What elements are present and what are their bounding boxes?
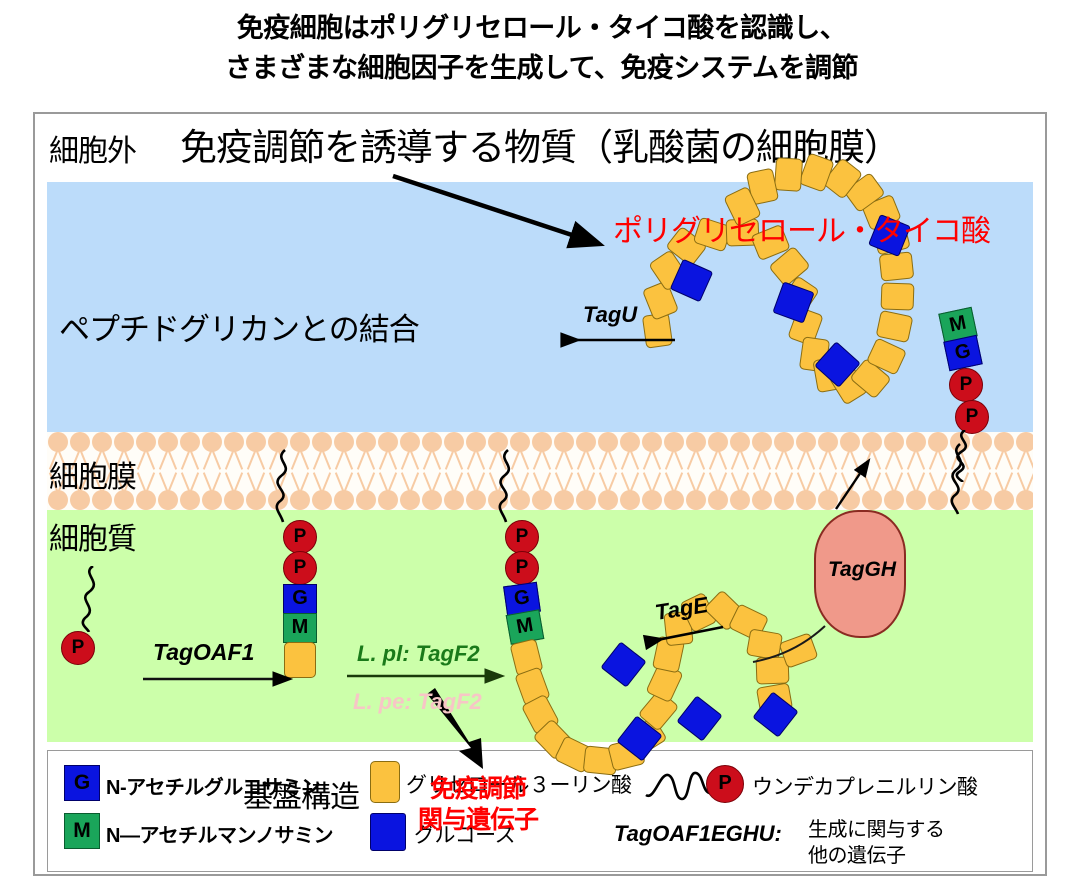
label-immune-regulation-genes: 免疫調節 関与遺伝子 [418, 774, 538, 836]
label-extracellular: 細胞外 [49, 126, 136, 170]
glucose-unit [600, 641, 646, 687]
enzyme-label-tagF2-plantarum: L. pl: TagF2 [357, 641, 480, 667]
title-line-1: 免疫細胞はポリグリセロール・タイコ酸を認識し、 [0, 8, 1083, 48]
phosphate-residue: P [505, 520, 539, 554]
enzyme-label-tagOAF1: TagOAF1 [153, 639, 254, 666]
glycerol-unit [284, 642, 316, 678]
phosphate-residue: P [283, 551, 317, 585]
immune-gene-line-1: 免疫調節 [418, 774, 538, 805]
mannac-residue: M [506, 609, 545, 644]
enzyme-label-tagF2-pentosus: L. pe: TagF2 [353, 689, 482, 715]
label-cytoplasm: 細胞質 [49, 514, 136, 558]
glucose-unit [676, 695, 722, 741]
phosphate-residue: P [61, 631, 95, 665]
immune-gene-line-2: 関与遺伝子 [418, 805, 538, 836]
undecaprenyl-free-tail [69, 566, 109, 632]
phosphate-residue: P [505, 551, 539, 585]
enzyme-label-tagU: TagU [583, 302, 637, 328]
title-line-2: さまざまな細胞因子を生成して、免疫システムを調節 [0, 48, 1083, 88]
label-peptidoglycan-binding: ペプチドグリカンとの結合 [59, 304, 419, 349]
label-polyglycerol-teichoic-acid: ポリグリセロール・タイコ酸 [613, 206, 990, 250]
mannac-residue: M [283, 613, 317, 643]
label-base-structure: 基盤構造 [243, 772, 359, 816]
protein-tagGH-label: TagGH [816, 558, 908, 582]
phosphate-residue: P [283, 520, 317, 554]
diagram-frame: 免疫調節を誘導する物質（乳酸菌の細胞膜） [33, 112, 1047, 876]
glcnac-residue: G [283, 584, 317, 614]
label-cell-membrane: 細胞膜 [49, 452, 136, 496]
protein-tagGH: TagGH [814, 510, 906, 638]
page-title: 免疫細胞はポリグリセロール・タイコ酸を認識し、 さまざまな細胞因子を生成して、免… [0, 8, 1083, 88]
